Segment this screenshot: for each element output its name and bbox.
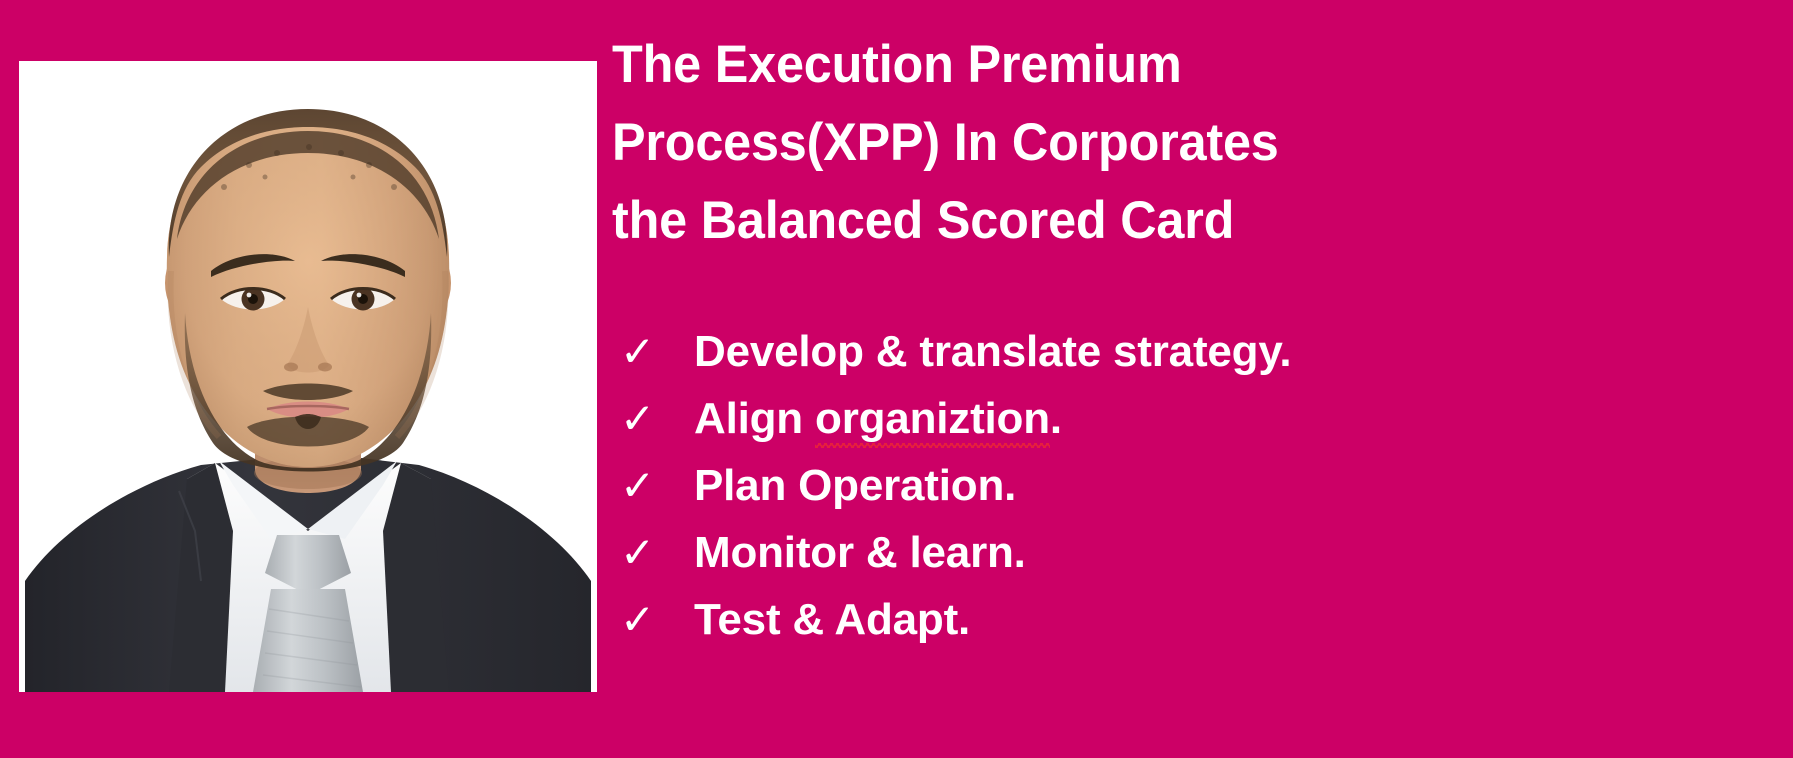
portrait-photo (19, 61, 597, 692)
list-item: ✓ Align organiztion. (612, 385, 1732, 452)
list-item-label: Plan Operation. (668, 458, 1016, 514)
portrait-photo-image (19, 61, 597, 692)
list-item-label: Develop & translate strategy. (668, 324, 1291, 380)
check-mark-icon: ✓ (612, 398, 668, 440)
check-mark-icon: ✓ (612, 331, 668, 373)
list-item-label: Test & Adapt. (668, 592, 970, 648)
list-item: ✓ Monitor & learn. (612, 519, 1732, 586)
necktie (253, 589, 363, 692)
slide-content: The Execution Premium Process(XPP) In Co… (612, 0, 1772, 758)
misspelled-word: organiztion (815, 391, 1050, 447)
check-mark-icon: ✓ (612, 599, 668, 641)
list-item-label-prefix: Align (694, 394, 815, 443)
check-mark-icon: ✓ (612, 465, 668, 507)
list-item: ✓ Plan Operation. (612, 452, 1732, 519)
list-item-label: Align organiztion. (668, 391, 1062, 447)
list-item-label-suffix: . (1050, 394, 1062, 443)
presentation-slide: The Execution Premium Process(XPP) In Co… (0, 0, 1793, 758)
bullet-list: ✓ Develop & translate strategy. ✓ Align … (612, 318, 1732, 653)
check-mark-icon: ✓ (612, 532, 668, 574)
list-item: ✓ Test & Adapt. (612, 586, 1732, 653)
list-item-label: Monitor & learn. (668, 525, 1026, 581)
slide-title: The Execution Premium Process(XPP) In Co… (612, 26, 1429, 260)
list-item: ✓ Develop & translate strategy. (612, 318, 1732, 385)
